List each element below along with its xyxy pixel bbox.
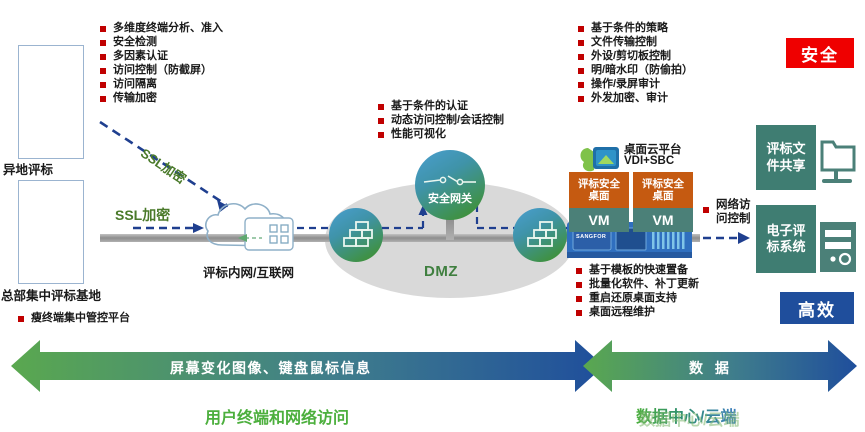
bullet-square-icon [578,26,584,32]
list-item: 外发加密、审计 [578,92,693,105]
list-item: 安全检测 [100,36,223,49]
bullet-square-icon [578,54,584,60]
list-item: 外设/剪切板控制 [578,50,693,63]
list-item: 文件传输控制 [578,36,693,49]
bullet-square-icon [578,96,584,102]
list-item [703,203,716,213]
secure-desktop-label-line1: 评标安全 [578,178,620,190]
e-bidding-label-line2: 标系统 [766,239,805,254]
bullet-square-icon [578,68,584,74]
bullet-square-icon [578,40,584,46]
list-item: 基于模板的快速置备 [576,264,699,277]
file-share-label-line1: 评标文 [766,141,805,156]
network-access-arrow [703,232,750,244]
left-arrow-caption: 屏幕变化图像、键盘鼠标信息 [170,358,372,378]
internet-cloud-icon [206,204,293,250]
list-item: 动态访问控制/会话控制 [378,114,504,127]
right-footer-label-shadow: 数据中心/云端 [639,406,739,430]
bullet-square-icon [100,68,106,74]
list-item: 多因素认证 [100,50,223,63]
bullet-square-icon [100,26,106,32]
secure-desktop-block-1: 评标安全 桌面 [569,172,629,208]
vdi-platform-title-line2: VDI+SBC [624,155,674,167]
internet-cloud-label: 评标内网/互联网 [203,262,294,281]
secure-desktop-label-line2: 桌面 [589,190,610,202]
right-arrow-caption: 数 据 [689,358,733,378]
thin-client-platform-list: 瘦终端集中管控平台 [18,312,130,326]
list-item: 多维度终端分析、准入 [100,22,223,35]
dmz-label: DMZ [424,263,458,280]
e-bidding-label-line1: 电子评 [766,223,805,238]
list-item: 瘦终端集中管控平台 [18,312,130,325]
remote-site-caption: 异地评标 [3,159,53,178]
hq-site-box [18,180,84,284]
firewall-icon-1 [329,208,383,262]
architecture-diagram: 异地评标 总部集中评标基地 多维度终端分析、准入 安全检测 多因素认证 访问控制… [0,0,865,432]
network-access-control-bullet [703,203,716,214]
file-share-icon [822,142,854,183]
secure-desktop-label-line2: 桌面 [653,190,674,202]
list-item: 访问控制（防截屏） [100,64,223,77]
list-item: 基于条件的认证 [378,100,504,113]
security-gateway-label: 安全网关 [415,190,485,206]
vm-block-1: VM [569,208,629,232]
nac-line1: 网络访 [716,199,751,211]
endpoint-capability-list: 多维度终端分析、准入 安全检测 多因素认证 访问控制（防截屏） 访问隔离 传输加… [100,22,223,106]
firewall-icon-2 [513,208,567,262]
remote-site-box [18,45,84,159]
vm-block-2: VM [633,208,693,232]
efficiency-badge: 高效 [780,292,854,324]
bullet-square-icon [100,40,106,46]
secure-desktop-label-line1: 评标安全 [642,178,684,190]
bullet-square-icon [378,132,384,138]
file-share-label-line2: 件共享 [766,158,805,173]
list-item: 访问隔离 [100,78,223,91]
nac-line2: 问控制 [716,213,751,225]
bullet-square-icon [578,82,584,88]
vdi-capability-list: 基于模板的快速置备 批量化软件、补丁更新 重启还原桌面支持 桌面远程维护 [576,264,699,320]
bullet-square-icon [576,310,582,316]
list-item: 性能可视化 [378,128,504,141]
security-gateway-icon [415,150,485,220]
server-icon [820,222,856,272]
file-share-box: 评标文 件共享 [756,125,816,190]
list-item: 传输加密 [100,92,223,105]
list-item: 操作/录屏审计 [578,78,693,91]
bullet-square-icon [378,118,384,124]
bullet-square-icon [576,268,582,274]
secure-desktop-block-2: 评标安全 桌面 [633,172,693,208]
vdi-platform-logo-icon [581,147,619,171]
bullet-square-icon [18,316,24,322]
bullet-square-icon [576,282,582,288]
bullet-square-icon [100,54,106,60]
network-access-control-label: 网络访 问控制 [716,198,751,227]
bullet-square-icon [100,82,106,88]
gateway-capability-list: 基于条件的认证 动态访问控制/会话控制 性能可视化 [378,100,504,142]
security-badge: 安全 [786,38,854,68]
bullet-square-icon [100,96,106,102]
desktop-security-capability-list: 基于条件的策略 文件传输控制 外设/剪切板控制 明/暗水印（防偷拍） 操作/录屏… [578,22,693,106]
e-bidding-box: 电子评 标系统 [756,205,816,273]
bullet-square-icon [576,296,582,302]
bullet-square-icon [378,104,384,110]
list-item: 基于条件的策略 [578,22,693,35]
list-item: 批量化软件、补丁更新 [576,278,699,291]
list-item: 明/暗水印（防偷拍） [578,64,693,77]
hq-site-caption: 总部集中评标基地 [1,285,101,304]
left-footer-label: 用户终端和网络访问 [205,404,349,428]
bullet-square-icon [703,207,709,213]
sangfor-brand-label: SANGFOR [576,234,606,240]
ssl-horizontal-label: SSL加密 [115,205,170,225]
list-item: 重启还原桌面支持 [576,292,699,305]
list-item: 桌面远程维护 [576,306,699,319]
